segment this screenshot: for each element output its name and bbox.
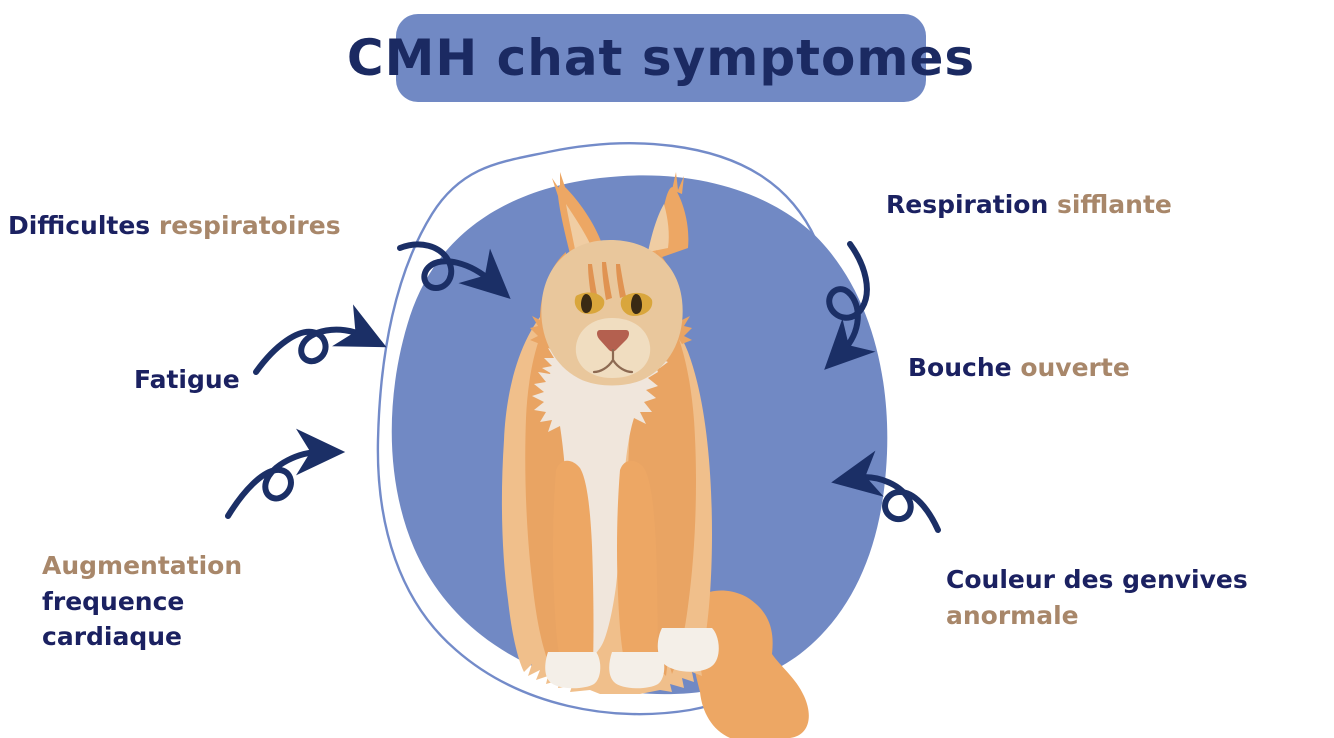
label-text-tan: anormale — [946, 598, 1248, 634]
arrow-group — [228, 244, 938, 530]
cat-leg-left — [553, 461, 594, 682]
label-fatigue: Fatigue — [134, 362, 240, 398]
cat-nose — [597, 330, 629, 352]
cat-forehead-stripes — [588, 262, 626, 302]
label-respiration-sifflante: Respiration sifflante — [886, 187, 1172, 223]
cat-paw-right — [609, 652, 664, 688]
label-text-navy: Fatigue — [134, 365, 240, 394]
cat-pupil-right — [631, 294, 642, 314]
cat-head — [541, 240, 682, 386]
page-title: CMH chat symptomes — [347, 29, 975, 87]
arrow-fatigue-icon — [256, 330, 364, 372]
label-text-tan: Augmentation — [42, 548, 242, 584]
cat-leg-right — [617, 461, 658, 682]
cat-ear-inner-right — [648, 204, 669, 252]
label-text-navy: Difficultes — [8, 211, 159, 240]
cat-ear-right — [648, 187, 688, 262]
cat-chest-ruff — [532, 338, 658, 656]
label-augmentation-frequence-cardiaque: Augmentation frequence cardiaque — [42, 548, 242, 655]
cat-muzzle — [576, 318, 650, 378]
cat-paw-left — [545, 652, 600, 688]
title-banner: CMH chat symptomes — [396, 14, 926, 102]
cat-ear-tuft-right — [672, 172, 684, 194]
arrow-couleur-icon — [856, 477, 938, 530]
label-text-tan: respiratoires — [159, 211, 341, 240]
arrow-augmentation-icon — [228, 452, 320, 516]
cat-eye-right — [621, 293, 653, 316]
label-text-navy: Respiration — [886, 190, 1057, 219]
label-difficultes-respiratoires: Difficultes respiratoires — [8, 208, 341, 244]
cat-head-fur-right — [648, 250, 692, 344]
cat-ear-inner-left — [566, 204, 592, 254]
label-text-navy: cardiaque — [42, 619, 242, 655]
cat-body-outer — [502, 287, 712, 695]
cat-fur-mid-left — [525, 300, 590, 682]
cat-fur-mid-right — [627, 298, 696, 684]
blob-outline — [378, 143, 838, 714]
label-text-tan: sifflante — [1057, 190, 1172, 219]
blob-background — [392, 175, 888, 694]
arrow-difficultes-icon — [400, 244, 492, 288]
cat-tail — [690, 590, 809, 738]
cat-illustration — [502, 172, 809, 738]
label-text-navy: frequence — [42, 584, 242, 620]
cat-ear-left — [558, 185, 602, 262]
cat-head-fur — [530, 252, 576, 344]
label-text-navy: Couleur des genvives — [946, 562, 1248, 598]
label-couleur-des-genvives-anormale: Couleur des genvives anormale — [946, 562, 1248, 633]
cat-eye-left — [575, 293, 605, 314]
infographic-canvas: CMH chat symptomes Difficultes respirato… — [0, 0, 1334, 738]
cat-neck-ruff — [542, 314, 668, 374]
cat-mouth — [594, 350, 632, 372]
label-text-navy: Bouche — [908, 353, 1020, 382]
cat-ear-tuft-left — [552, 172, 566, 196]
label-text-tan: ouverte — [1020, 353, 1129, 382]
cat-paw-back — [658, 628, 719, 672]
arrow-respiration-icon — [829, 244, 867, 352]
cat-pupil-left — [581, 294, 592, 313]
label-bouche-ouverte: Bouche ouverte — [908, 350, 1130, 386]
